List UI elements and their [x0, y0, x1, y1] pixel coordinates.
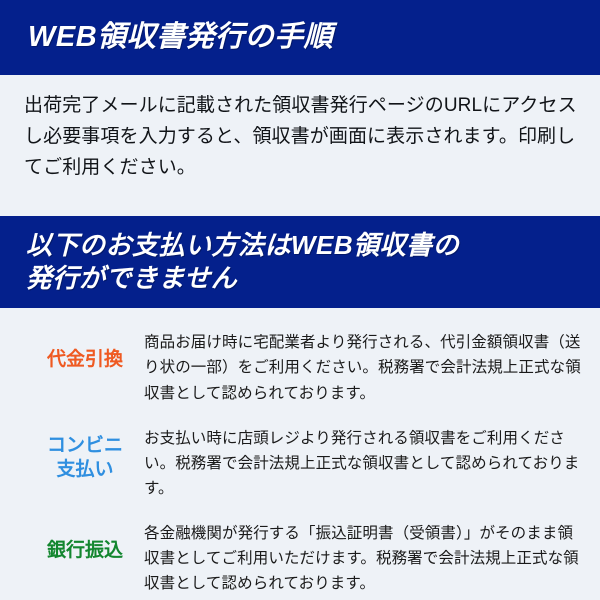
payment-method-label-cod: 代金引換	[26, 326, 144, 372]
payment-method-list: 代金引換 商品お届け時に宅配業者より発行される、代引金額領収書（送り状の一部）を…	[0, 308, 600, 596]
notice-heading-band: 以下のお支払い方法はWEB領収書の 発行ができません	[0, 216, 600, 308]
payment-method-label-convenience-store: コンビニ 支払い	[26, 422, 144, 483]
payment-method-description-cod: 商品お届け時に宅配業者より発行される、代引金額領収書（送り状の一部）をご利用くだ…	[144, 326, 582, 405]
primary-heading-band: WEB領収書発行の手順	[0, 0, 600, 75]
notice-title: 以下のお支払い方法はWEB領収書の 発行ができません	[26, 229, 459, 297]
intro-paragraph: 出荷完了メールに記載された領収書発行ページのURLにアクセスし必要事項を入力する…	[0, 75, 600, 183]
payment-method-description-convenience-store: お支払い時に店頭レジより発行される領収書をご利用ください。税務署で会計法規上正式…	[144, 422, 582, 501]
payment-method-row-bank-transfer: 銀行振込 各金融機関が発行する「振込証明書（受領書）」がそのまま領収書としてご利…	[0, 517, 600, 596]
page-title: WEB領収書発行の手順	[28, 21, 333, 54]
payment-method-description-bank-transfer: 各金融機関が発行する「振込証明書（受領書）」がそのまま領収書としてご利用いただけ…	[144, 517, 582, 596]
payment-method-row-convenience-store: コンビニ 支払い お支払い時に店頭レジより発行される領収書をご利用ください。税務…	[0, 422, 600, 501]
payment-method-label-bank-transfer: 銀行振込	[26, 517, 144, 563]
payment-method-row-cod: 代金引換 商品お届け時に宅配業者より発行される、代引金額領収書（送り状の一部）を…	[0, 326, 600, 405]
receipt-info-page: WEB領収書発行の手順 出荷完了メールに記載された領収書発行ページのURLにアク…	[0, 0, 600, 600]
